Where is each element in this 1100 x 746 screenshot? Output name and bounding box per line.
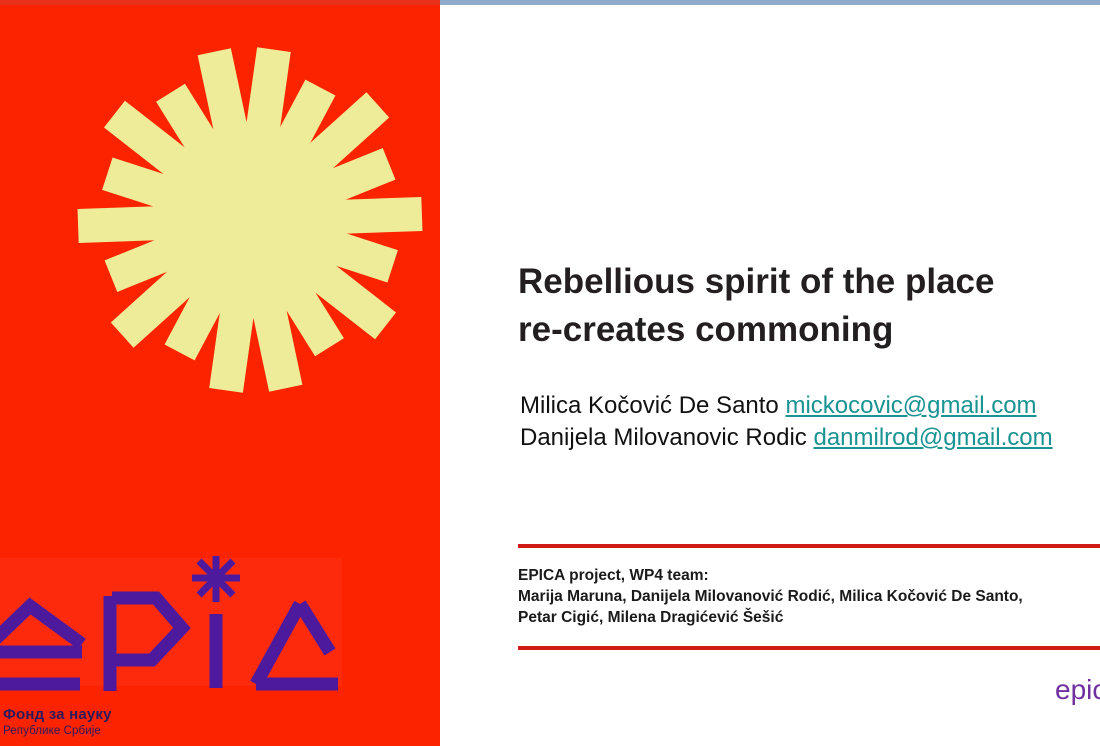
credits-bottom-rule [518,646,1100,650]
science-fund-lockup: Фонд за науку Републике Србије [3,706,223,738]
title-line-2: re-creates commoning [518,306,1100,354]
epica-logo [0,556,350,691]
author-list: Milica Kočović De Santo mickocovic@gmail… [520,390,1100,454]
credit-line: Petar Cigić, Milena Dragićević Šešić [518,607,1100,628]
author-row: Danijela Milovanovic Rodic danmilrod@gma… [520,422,1100,454]
asterisk-starburst-icon [60,30,440,410]
title-line-1: Rebellious spirit of the place [518,258,1100,306]
fund-name-line1: Фонд за науку [3,706,223,723]
author-email-link[interactable]: danmilrod@gmail.com [813,424,1052,451]
author-name: Milica Kočović De Santo [520,392,779,419]
author-name: Danijela Milovanovic Rodic [520,424,807,451]
fund-name-line2: Републике Србије [3,724,223,738]
presentation-slide: Фонд за науку Републике Србије Rebelliou… [0,0,1100,746]
credit-line: EPICA project, WP4 team: [518,565,1100,586]
author-row: Milica Kočović De Santo mickocovic@gmail… [520,390,1100,422]
credit-line: Marija Maruna, Danijela Milovanović Rodi… [518,586,1100,607]
credits-block: EPICA project, WP4 team: Marija Maruna, … [518,565,1100,628]
author-email-link[interactable]: mickocovic@gmail.com [785,392,1036,419]
slide-content-area: Rebellious spirit of the place re-create… [440,5,1100,746]
epica-footer-wordmark: epic [1055,673,1100,707]
left-red-panel: Фонд за науку Републике Србије [0,0,440,746]
credits-top-rule [518,544,1100,548]
slide-title: Rebellious spirit of the place re-create… [518,258,1100,354]
red-panel-top-edge [0,0,440,5]
